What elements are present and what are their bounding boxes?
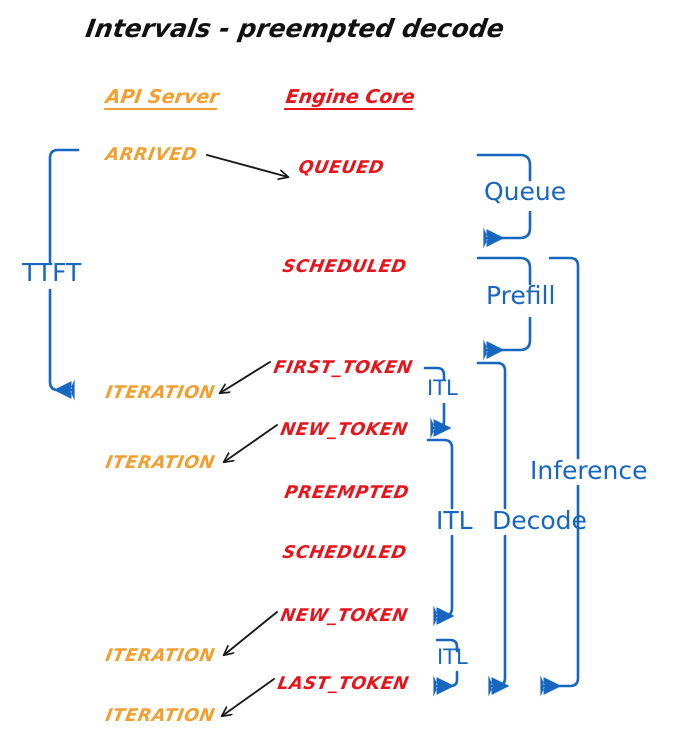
annotation-label-inference: Inference xyxy=(530,458,647,483)
bracket-itl-decode-top xyxy=(428,440,452,508)
annotation-label-itl-last: ITL xyxy=(437,647,468,668)
arrow-firsttoken-to-iteration xyxy=(220,362,270,393)
bracket-prefill-bottom xyxy=(486,318,530,350)
bracket-decode-top xyxy=(478,363,505,508)
event-engine-new-token-1: NEW_TOKEN xyxy=(279,422,409,440)
bracket-queue-bottom xyxy=(486,212,530,238)
event-engine-new-token-2: NEW_TOKEN xyxy=(279,608,409,626)
event-engine-queued: QUEUED xyxy=(297,160,385,178)
annotation-label-itl-decode: ITL xyxy=(436,508,473,533)
annotation-label-decode: Decode xyxy=(492,508,587,533)
arrow-lasttoken-to-iteration xyxy=(222,679,274,716)
bracket-itl-decode-bottom xyxy=(436,536,452,616)
bracket-ttft-top xyxy=(50,150,78,262)
bracket-itl-first-bottom xyxy=(433,404,444,428)
column-header-api-server: API Server xyxy=(104,88,220,110)
annotation-label-prefill: Prefill xyxy=(486,283,555,308)
annotation-label-queue: Queue xyxy=(484,179,566,204)
diagram-canvas: Intervals - preempted decode API Server … xyxy=(0,0,679,750)
event-api-arrived: ARRIVED xyxy=(104,147,198,165)
event-engine-first-token: FIRST_TOKEN xyxy=(272,360,414,378)
column-header-engine-core: Engine Core xyxy=(284,88,416,110)
arrow-newtoken-to-iteration-1 xyxy=(224,425,277,462)
annotation-label-itl-first: ITL xyxy=(427,378,458,399)
bracket-decode-bottom xyxy=(491,536,505,686)
arrow-arrived-to-queued xyxy=(207,155,288,177)
event-engine-scheduled-1: SCHEDULED xyxy=(281,259,408,277)
event-api-iteration-3: ITERATION xyxy=(104,648,216,666)
page-title: Intervals - preempted decode xyxy=(84,16,506,41)
event-api-iteration-2: ITERATION xyxy=(104,455,216,473)
arrow-newtoken-to-iteration-2 xyxy=(224,612,277,655)
bracket-itl-last-bottom xyxy=(436,672,457,686)
event-engine-last-token: LAST_TOKEN xyxy=(276,676,410,694)
event-api-iteration-1: ITERATION xyxy=(104,385,216,403)
event-engine-preempted: PREEMPTED xyxy=(283,485,410,503)
bracket-ttft-bottom xyxy=(50,290,72,390)
event-api-iteration-4: ITERATION xyxy=(104,708,216,726)
annotation-label-ttft: TTFT xyxy=(22,260,81,285)
event-engine-scheduled-2: SCHEDULED xyxy=(281,545,408,563)
